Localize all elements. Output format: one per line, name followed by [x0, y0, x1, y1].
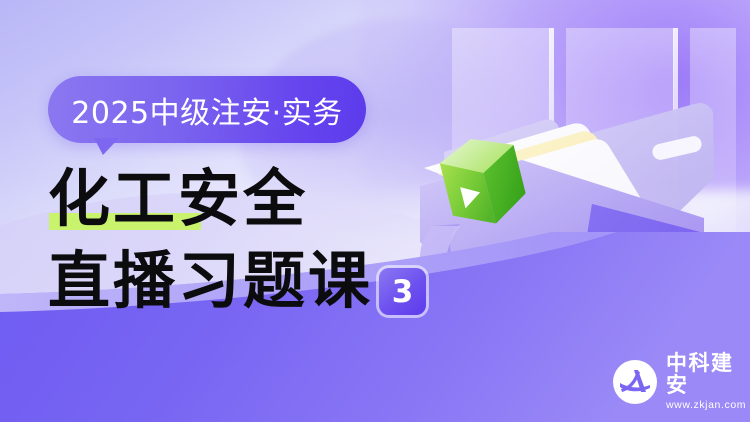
course-promo-banner: 2025中级注安·实务 化工安全 直播习题课 3 中科建安 www.zkjan.…	[0, 0, 750, 422]
headline-line-2-text: 直播习题课	[48, 250, 373, 312]
headline-line-1-text: 化工安全	[48, 168, 308, 230]
brand-url: www.zkjan.com	[666, 399, 750, 411]
brand-logo-text: 中科建安 www.zkjan.com	[666, 352, 750, 411]
brand-name: 中科建安	[666, 352, 750, 396]
headline-line-1: 化工安全	[48, 158, 448, 240]
episode-number-badge: 3	[379, 268, 426, 315]
brand-logo: 中科建安 www.zkjan.com	[612, 352, 750, 411]
folder-illustration	[404, 28, 750, 364]
subject-badge: 2025中级注安·实务	[48, 76, 366, 143]
zk-monogram-icon	[612, 359, 658, 405]
subject-badge-label: 2025中级注安·实务	[48, 76, 366, 143]
